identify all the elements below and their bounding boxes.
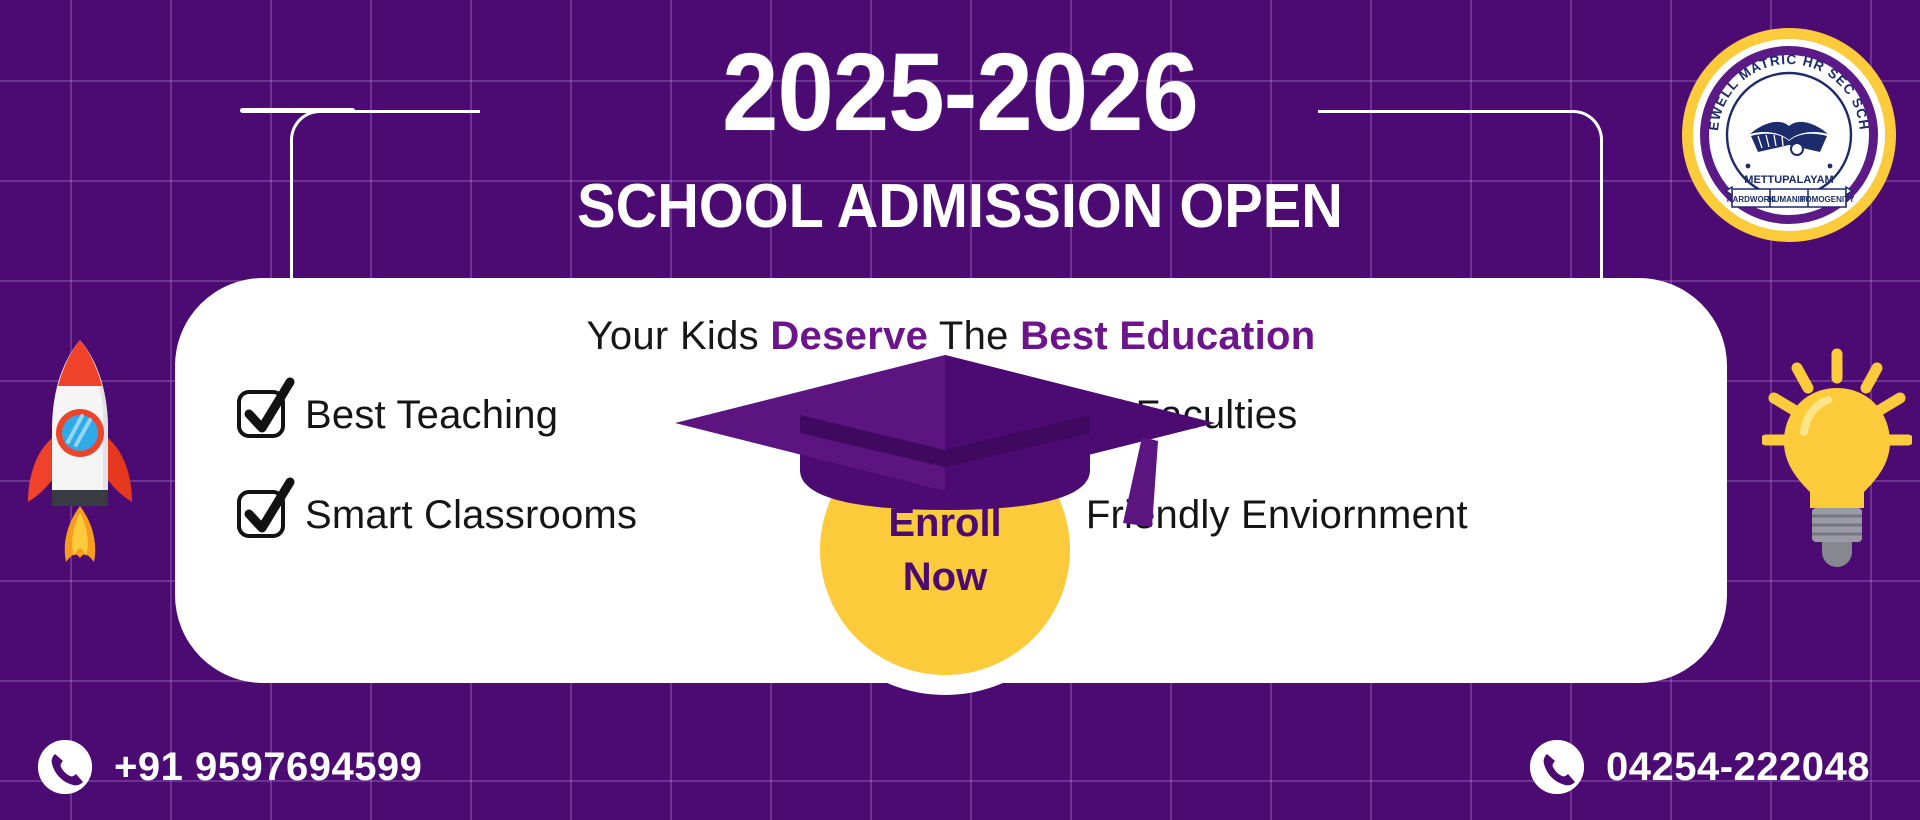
contact-phone-secondary[interactable]: 04254-222048 [1530, 740, 1870, 794]
logo-location: METTUPALAYAM [1744, 174, 1833, 186]
page-title: SCHOOL ADMISSION OPEN [67, 176, 1853, 238]
lightbulb-icon [1762, 340, 1912, 570]
phone-number: +91 9597694599 [114, 745, 422, 790]
feature-item: Smart Classrooms [235, 488, 637, 542]
feature-label: Smart Classrooms [305, 493, 637, 538]
rocket-icon [10, 330, 150, 580]
phone-icon [1530, 740, 1584, 794]
phone-number: 04254-222048 [1606, 745, 1870, 790]
phone-icon [38, 740, 92, 794]
logo-motto-ribbon: HARDWORK HUMANITY HOMOGENITY [1726, 187, 1855, 207]
enroll-line2: Now [903, 550, 987, 604]
graduation-cap-icon [655, 295, 1235, 555]
feature-item: Best Teaching [235, 388, 558, 442]
feature-label: Best Teaching [305, 393, 558, 438]
svg-text:HOMOGENITY: HOMOGENITY [1800, 195, 1855, 204]
checkbox-checked-icon [235, 388, 289, 442]
school-logo: CAREWELL MATRIC HR SEC SCHOOL METTUPALAY… [1680, 26, 1898, 244]
admission-banner: 2025-2026 SCHOOL ADMISSION OPEN CAREWELL… [0, 0, 1920, 820]
enroll-now-button[interactable]: Enroll Now [800, 405, 1090, 695]
checkbox-checked-icon [235, 488, 289, 542]
contact-phone-primary[interactable]: +91 9597694599 [38, 740, 422, 794]
year-range-title: 2025-2026 [77, 38, 1843, 148]
